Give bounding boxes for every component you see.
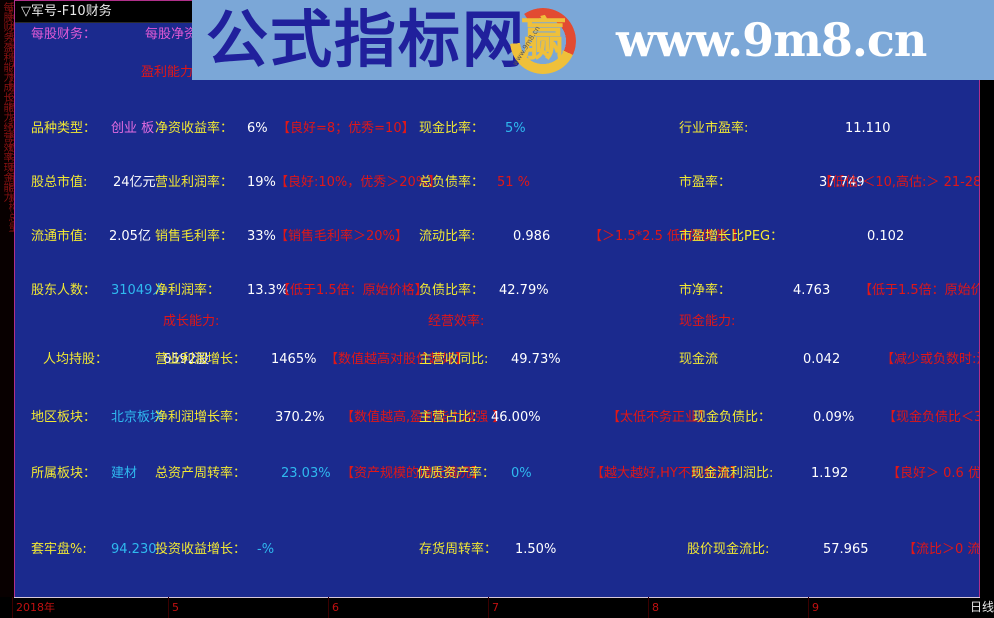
axis-tick-3: 7 [492,601,499,615]
metric-value-r7-c3: 57.965 [823,542,869,557]
time-axis[interactable]: 2018年56789 日线 [0,597,994,618]
metric-label-r0-c1: 净资收益率： [155,121,233,136]
metric-value-r2-c3: 0.102 [867,229,904,244]
metric-value-r0-c1: 6% [247,121,268,136]
metric-note-r7-c3: 【流比＞0 流低＜80】 [903,542,979,557]
banner-site-name: 公式指标网 [206,2,526,78]
metric-value-r5-c3: 0.09% [813,410,854,425]
metric-label-r7-c2: 存货周转率： [419,542,497,557]
metric-note-r6-c3: 【良好＞ 0.6 优秀＞ 0.95】 [887,466,979,481]
site-logo-icon: 赢 www.9m8.cn [510,8,576,74]
metric-label-r2-c1: 销售毛利率： [155,229,233,244]
watermark-banner: 公式指标网 赢 www.9m8.cn www.9m8.cn [192,0,994,80]
metric-label-r4-c3: 现金流 [679,352,718,367]
window-title: ▽军号-F10财务 [21,4,112,19]
section-head-cash: 现金能力: [679,314,735,329]
metric-value-r6-c0: 建材 [111,466,137,481]
per-share-section-label: 每股财务： [31,27,96,42]
metric-label-r4-c2: 主营收同比: [419,352,488,367]
metric-value-r7-c1: -% [257,542,274,557]
metric-label-r3-c1: 净利润率： [155,283,220,298]
metric-label-r2-c0: 流通市值: [31,229,87,244]
section-head-profit: 盈利能力: [141,65,197,80]
axis-tick-2: 6 [332,601,339,615]
axis-tick-separator-2 [328,597,329,618]
metric-label-r7-c1: 投资收益增长： [155,542,246,557]
metric-value-r4-c2: 49.73% [511,352,561,367]
metric-label-r5-c1: 净利润增长率： [155,410,246,425]
metric-note-r3-c3: 【低于1.5倍：原始价格】 [859,283,979,298]
axis-tick-separator-1 [168,597,169,618]
metric-value-r4-c3: 0.042 [803,352,840,367]
axis-tick-1: 5 [172,601,179,615]
metric-label-r2-c2: 流动比率: [419,229,475,244]
metric-value-r3-c3: 4.763 [793,283,830,298]
metric-label-r6-c0: 所属板块： [31,466,96,481]
banner-url: www.9m8.cn [616,8,926,72]
axis-tick-separator-5 [808,597,809,618]
metric-label-r6-c2: 优质资产率： [417,466,495,481]
metric-note-r5-c3: 【现金负债比＜30%】 [883,410,979,425]
metric-value-r6-c1: 23.03% [281,466,331,481]
finance-board: 每股财务： 每股净资产: 1.451 每 盈利能力: 成长能力: 经营效率: 现… [15,23,979,597]
metric-label-r1-c1: 营业利润率： [155,175,233,190]
metric-label-r3-c3: 市净率： [679,283,731,298]
metric-label-r2-c3: 市盈增长比PEG： [679,229,783,244]
metric-note-r3-c1: 【低于1.5倍：原始价格】 [277,283,428,298]
metric-value-r5-c2: 46.00% [491,410,541,425]
metric-value-r7-c2: 1.50% [515,542,556,557]
metric-label-r6-c1: 总资产周转率： [155,466,246,481]
section-head-growth: 成长能力: [163,314,219,329]
metric-label-r0-c0: 品种类型： [31,121,96,136]
metric-label-r4-c0: 人均持股： [43,352,108,367]
axis-tick-0: 2018年 [16,601,55,615]
metric-value-r3-c2: 42.79% [499,283,549,298]
section-head-efficiency: 经营效率: [428,314,484,329]
metric-label-r5-c2: 主营占比： [419,410,484,425]
left-vertical-strip[interactable]: 每股财务盈利能力成长能力经营效率现金能力 品种类型股东人数地区板块所属板块套牢盘… [0,0,15,597]
metric-label-r1-c0: 股总市值: [31,175,87,190]
metric-label-r3-c2: 负债比率： [419,283,484,298]
metric-value-r2-c2: 0.986 [513,229,550,244]
metric-value-r1-c1: 19% [247,175,276,190]
metric-value-r1-c0: 24亿元 [113,175,156,190]
metric-value-r7-c0: 94.230 [111,542,157,557]
axis-mode-label[interactable]: 日线 [970,600,994,615]
metric-note-r1-c3: 【低估:＜10,高估:＞ 21-28 】 [819,175,979,190]
metric-note-r2-c1: 【销售毛利率＞20%】 [275,229,408,244]
metric-label-r0-c2: 现金比率： [419,121,484,136]
metric-label-r1-c2: 总负债率： [419,175,484,190]
metric-label-r1-c3: 市盈率： [679,175,731,190]
metric-value-r5-c1: 370.2% [275,410,325,425]
metric-value-r0-c3: 11.110 [845,121,891,136]
metric-note-r1-c1: 【良好:10%，优秀＞20%】 [275,175,441,190]
metric-value-r1-c2: 51 % [497,175,530,190]
f10-finance-window: ▽军号-F10财务 每股财务： 每股净资产: 1.451 每 盈利能力: 成长能… [14,0,980,597]
axis-tick-5: 9 [812,601,819,615]
axis-tick-separator-3 [488,597,489,618]
metric-value-r6-c2: 0% [511,466,532,481]
app-root: 每股财务盈利能力成长能力经营效率现金能力 品种类型股东人数地区板块所属板块套牢盘… [0,0,994,618]
metric-label-r7-c3: 股价现金流比: [687,542,769,557]
metric-label-r0-c3: 行业市盈率: [679,121,748,136]
metric-value-r2-c0: 2.05亿 [109,229,151,244]
axis-tick-separator-4 [648,597,649,618]
metric-label-r4-c1: 营业利润增长： [155,352,246,367]
axis-tick-4: 8 [652,601,659,615]
metric-value-r6-c3: 1.192 [811,466,848,481]
metric-label-r7-c0: 套牢盘%: [31,542,87,557]
metric-label-r3-c0: 股东人数： [31,283,96,298]
metric-value-r2-c1: 33% [247,229,276,244]
metric-value-r0-c2: 5% [505,121,526,136]
metric-note-r4-c3: 【减少或负数时:注意】 [881,352,979,367]
metric-value-r4-c1: 1465% [271,352,316,367]
metric-note-r0-c1: 【良好=8；优秀=10】 [277,121,415,136]
metric-label-r6-c3: 现金流利润比: [691,466,773,481]
axis-rule [14,597,980,598]
metric-label-r5-c0: 地区板块： [31,410,96,425]
metric-value-r0-c0: 创业 板 [111,121,154,136]
axis-tick-separator-0 [12,597,13,618]
metric-label-r5-c3: 现金负债比： [693,410,771,425]
